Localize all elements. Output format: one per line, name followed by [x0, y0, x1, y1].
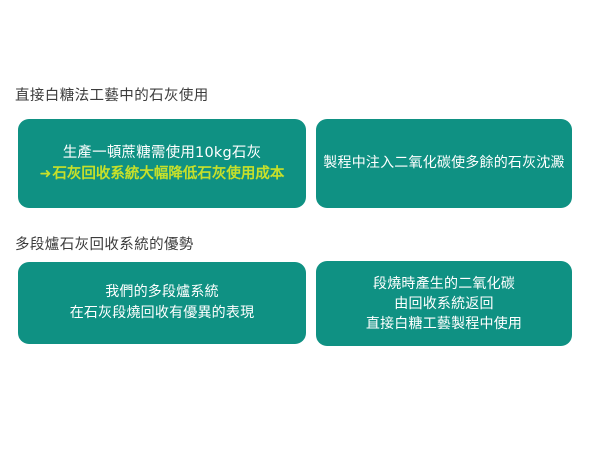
slide-canvas: 直接白糖法工藝中的石灰使用 生產一頓蔗糖需使用10kg石灰 ➜石灰回收系統大幅降…: [0, 0, 600, 450]
callout-line: 直接白糖工藝製程中使用: [366, 314, 522, 334]
section-heading-multi-hearth-advantage: 多段爐石灰回收系統的優勢: [15, 238, 194, 253]
callout-line: 由回收系統返回: [394, 294, 493, 314]
section-heading-lime-usage: 直接白糖法工藝中的石灰使用: [15, 89, 209, 104]
callout-line-text: 石灰回收系統大幅降低石灰使用成本: [52, 166, 284, 182]
callout-line: 我們的多段爐系統: [105, 282, 219, 303]
multi-hearth-advantage-callout: 我們的多段爐系統 在石灰段燒回收有優異的表現: [18, 262, 306, 344]
co2-return-callout: 段燒時產生的二氧化碳 由回收系統返回 直接白糖工藝製程中使用: [316, 261, 572, 346]
co2-injection-callout: 製程中注入二氧化碳使多餘的石灰沈澱: [316, 119, 572, 208]
callout-line: 段燒時產生的二氧化碳: [373, 274, 515, 294]
callout-line: 製程中注入二氧化碳使多餘的石灰沈澱: [323, 153, 564, 174]
lime-usage-callout: 生產一頓蔗糖需使用10kg石灰 ➜石灰回收系統大幅降低石灰使用成本: [18, 119, 306, 208]
callout-line: 在石灰段燒回收有優異的表現: [70, 303, 255, 324]
arrow-right-icon: ➜: [40, 166, 52, 182]
callout-line: 生產一頓蔗糖需使用10kg石灰: [63, 143, 262, 164]
callout-line-highlighted: ➜石灰回收系統大幅降低石灰使用成本: [40, 164, 285, 185]
